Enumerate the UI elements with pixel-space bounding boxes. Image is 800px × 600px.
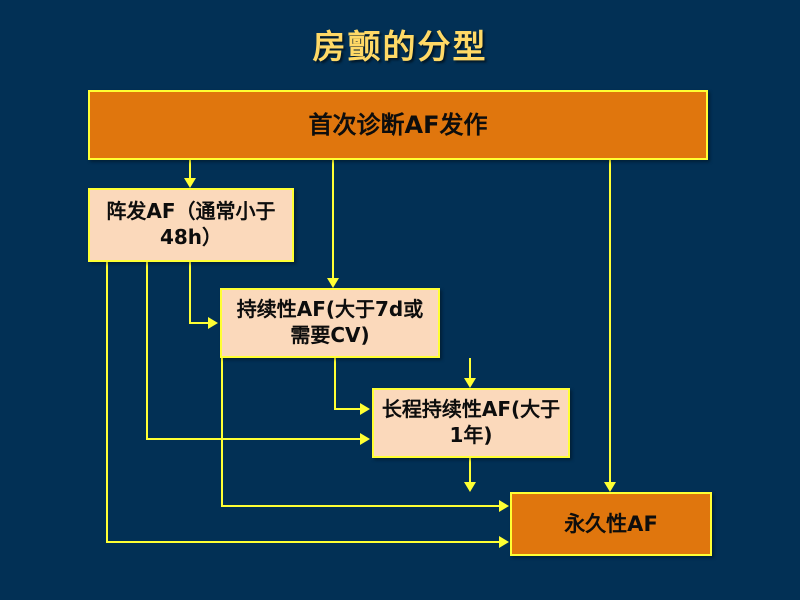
edge-long-to-perm-arrowhead [464,482,476,492]
edge-first-to-persist-arrowhead [327,278,339,288]
page-title: 房颤的分型 [0,20,800,68]
edge-parox-to-long-vline [146,262,148,440]
slide-canvas: 房颤的分型 首次诊断AF发作 阵发AF（通常小于48h） 持续性AF(大于7d或… [0,0,800,600]
edge-persist-to-long-hline [334,408,363,410]
edge-first-to-parox-line [189,160,191,180]
node-persistent-af-label: 持续性AF(大于7d或需要CV) [228,297,432,348]
edge-persist-to-long-vline [334,358,336,410]
edge-persist-to-long-arrowhead [360,403,370,415]
edge-persist-to-perm-vline [221,358,223,507]
edge-parox-to-perm-hline [106,541,502,543]
edge-first-to-perm-line [609,160,611,484]
node-permanent-af[interactable]: 永久性AF [510,492,712,556]
node-longstanding-persistent-af[interactable]: 长程持续性AF(大于1年) [372,388,570,458]
edge-parox-to-persist-arrowhead [208,317,218,329]
edge-parox-to-perm-vline [106,262,108,543]
node-first-diagnosed-af[interactable]: 首次诊断AF发作 [88,90,708,160]
node-first-diagnosed-af-label: 首次诊断AF发作 [90,110,706,141]
edge-parox-to-persist-vline [189,262,191,324]
edge-parox-to-long-hline [146,438,363,440]
node-paroxysmal-af[interactable]: 阵发AF（通常小于48h） [88,188,294,262]
edge-long-to-perm-vline [469,458,471,484]
edge-parox-to-long-arrowhead [360,433,370,445]
edge-parox-to-perm-arrowhead [499,536,509,548]
edge-first-to-persist-line [332,160,334,280]
edge-first-to-perm-arrowhead [604,482,616,492]
node-paroxysmal-af-label: 阵发AF（通常小于48h） [98,199,284,250]
node-permanent-af-label: 永久性AF [512,511,710,538]
node-persistent-af[interactable]: 持续性AF(大于7d或需要CV) [220,288,440,358]
node-longstanding-persistent-af-label: 长程持续性AF(大于1年) [380,397,562,448]
edge-persist-to-perm-hline [221,505,502,507]
edge-persist-to-long-top-arrowhead [464,378,476,388]
edge-persist-to-long-topline [469,358,471,380]
edge-first-to-parox-arrowhead [184,178,196,188]
edge-persist-to-perm-arrowhead [499,500,509,512]
